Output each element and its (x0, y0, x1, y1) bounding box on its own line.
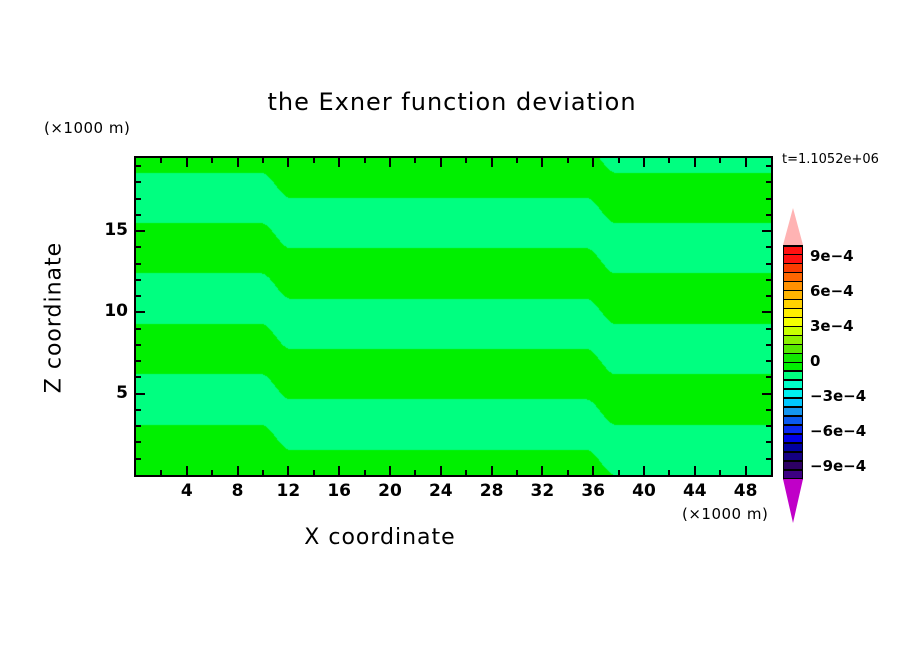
x-tick (694, 466, 696, 475)
colorbar-band-separator (783, 451, 803, 453)
x-tick (364, 470, 366, 475)
y-tick (766, 279, 771, 281)
colorbar-band-separator (783, 317, 803, 319)
x-tick (262, 158, 264, 163)
colorbar-label: 3e−4 (810, 317, 854, 335)
y-tick (136, 246, 141, 248)
x-tick (567, 470, 569, 475)
x-tick (592, 158, 594, 167)
x-tick (313, 158, 315, 163)
y-tick (136, 311, 145, 313)
x-tick (668, 470, 670, 475)
y-tick (766, 458, 771, 460)
x-tick (491, 466, 493, 475)
y-tick (762, 393, 771, 395)
y-axis-unit-label: (×1000 m) (44, 119, 130, 137)
y-tick (136, 441, 141, 443)
x-tick (287, 466, 289, 475)
y-tick (766, 214, 771, 216)
colorbar-band-separator (783, 388, 803, 390)
colorbar-band-separator (783, 299, 803, 301)
x-tick (440, 466, 442, 475)
y-tick (136, 198, 141, 200)
y-tick (136, 181, 141, 183)
y-tick (766, 425, 771, 427)
colorbar-band-separator (783, 424, 803, 426)
x-tick (516, 158, 518, 163)
colorbar-band-separator (783, 290, 803, 292)
y-tick (762, 311, 771, 313)
plot-area (134, 156, 773, 477)
x-tick-label: 20 (370, 481, 410, 501)
y-tick (136, 393, 145, 395)
y-tick (766, 198, 771, 200)
x-tick-label: 16 (319, 481, 359, 501)
x-tick (160, 470, 162, 475)
x-tick (338, 158, 340, 167)
y-tick (766, 409, 771, 411)
y-tick (136, 165, 141, 167)
x-tick (541, 158, 543, 167)
x-tick (541, 466, 543, 475)
page-title: the Exner function deviation (0, 88, 904, 116)
x-axis-unit-label: (×1000 m) (682, 505, 768, 523)
figure-root: the Exner function deviation (×1000 m) (… (0, 0, 904, 654)
colorbar-under-arrow-icon (783, 479, 803, 523)
colorbar-over-arrow-icon (783, 208, 803, 245)
y-tick (766, 344, 771, 346)
x-tick (643, 158, 645, 167)
y-tick (136, 458, 141, 460)
x-tick-label: 24 (421, 481, 461, 501)
y-tick (136, 409, 141, 411)
colorbar-label: −6e−4 (810, 422, 866, 440)
colorbar-band-separator (783, 308, 803, 310)
x-tick (389, 158, 391, 167)
colorbar-band-separator (783, 254, 803, 256)
x-tick-label: 4 (167, 481, 207, 501)
colorbar-band-separator (783, 281, 803, 283)
y-tick-label: 5 (88, 383, 128, 403)
colorbar-band-separator (783, 397, 803, 399)
x-tick (237, 158, 239, 167)
x-tick (719, 158, 721, 163)
colorbar (781, 208, 805, 522)
colorbar-band-separator (783, 263, 803, 265)
x-tick-label: 8 (218, 481, 258, 501)
y-tick (136, 425, 141, 427)
x-tick-label: 32 (522, 481, 562, 501)
colorbar-band-separator (783, 344, 803, 346)
x-tick (668, 158, 670, 163)
x-tick-label: 48 (726, 481, 766, 501)
y-tick (766, 441, 771, 443)
x-tick (287, 158, 289, 167)
y-tick (136, 214, 141, 216)
colorbar-band-separator (783, 370, 803, 372)
y-tick (136, 328, 141, 330)
x-tick (160, 158, 162, 163)
y-tick (136, 263, 141, 265)
x-tick (491, 158, 493, 167)
contour-field (136, 158, 771, 475)
colorbar-band-separator (783, 433, 803, 435)
colorbar-band-separator (783, 272, 803, 274)
colorbar-band-separator (783, 469, 803, 471)
x-tick (313, 470, 315, 475)
x-tick (618, 470, 620, 475)
x-tick (211, 158, 213, 163)
x-tick (465, 470, 467, 475)
x-tick (364, 158, 366, 163)
y-tick (766, 263, 771, 265)
y-tick-label: 15 (88, 220, 128, 240)
x-tick (262, 470, 264, 475)
y-tick (136, 360, 141, 362)
y-axis-title: Z coordinate (42, 198, 67, 438)
colorbar-band-separator (783, 415, 803, 417)
x-tick-label: 40 (624, 481, 664, 501)
colorbar-label: 0 (810, 352, 820, 370)
colorbar-band-separator (783, 245, 803, 247)
y-tick (136, 376, 141, 378)
colorbar-label: 9e−4 (810, 247, 854, 265)
x-tick (592, 466, 594, 475)
colorbar-band-separator (783, 442, 803, 444)
y-tick (136, 344, 141, 346)
x-tick-label: 28 (472, 481, 512, 501)
x-tick (618, 158, 620, 163)
colorbar-label: −3e−4 (810, 387, 866, 405)
x-tick (414, 158, 416, 163)
colorbar-band-separator (783, 335, 803, 337)
y-tick (136, 279, 141, 281)
x-tick-label: 44 (675, 481, 715, 501)
y-tick (766, 295, 771, 297)
x-axis-title: X coordinate (0, 525, 760, 550)
x-tick (694, 158, 696, 167)
y-tick (766, 165, 771, 167)
x-tick (414, 470, 416, 475)
y-tick (766, 181, 771, 183)
x-tick (745, 466, 747, 475)
x-tick (186, 158, 188, 167)
x-tick-label: 12 (268, 481, 308, 501)
y-tick (766, 360, 771, 362)
x-tick-label: 36 (573, 481, 613, 501)
colorbar-band-separator (783, 406, 803, 408)
colorbar-band-separator (783, 326, 803, 328)
x-tick (643, 466, 645, 475)
x-tick (389, 466, 391, 475)
colorbar-band-separator (783, 362, 803, 364)
colorbar-label: −9e−4 (810, 457, 866, 475)
x-tick (465, 158, 467, 163)
x-tick (338, 466, 340, 475)
x-tick (516, 470, 518, 475)
y-tick (766, 246, 771, 248)
x-tick (186, 466, 188, 475)
x-tick (745, 158, 747, 167)
x-tick (237, 466, 239, 475)
x-tick (211, 470, 213, 475)
colorbar-band-separator (783, 353, 803, 355)
x-tick (567, 158, 569, 163)
y-tick (136, 295, 141, 297)
colorbar-band-separator (783, 379, 803, 381)
timestamp-annotation: t=1.1052e+06 (782, 152, 879, 167)
y-tick-label: 10 (88, 301, 128, 321)
y-tick (136, 230, 145, 232)
colorbar-label: 6e−4 (810, 282, 854, 300)
y-tick (766, 376, 771, 378)
x-tick (719, 470, 721, 475)
colorbar-band-separator (783, 460, 803, 462)
y-tick (762, 230, 771, 232)
x-tick (440, 158, 442, 167)
y-tick (766, 328, 771, 330)
